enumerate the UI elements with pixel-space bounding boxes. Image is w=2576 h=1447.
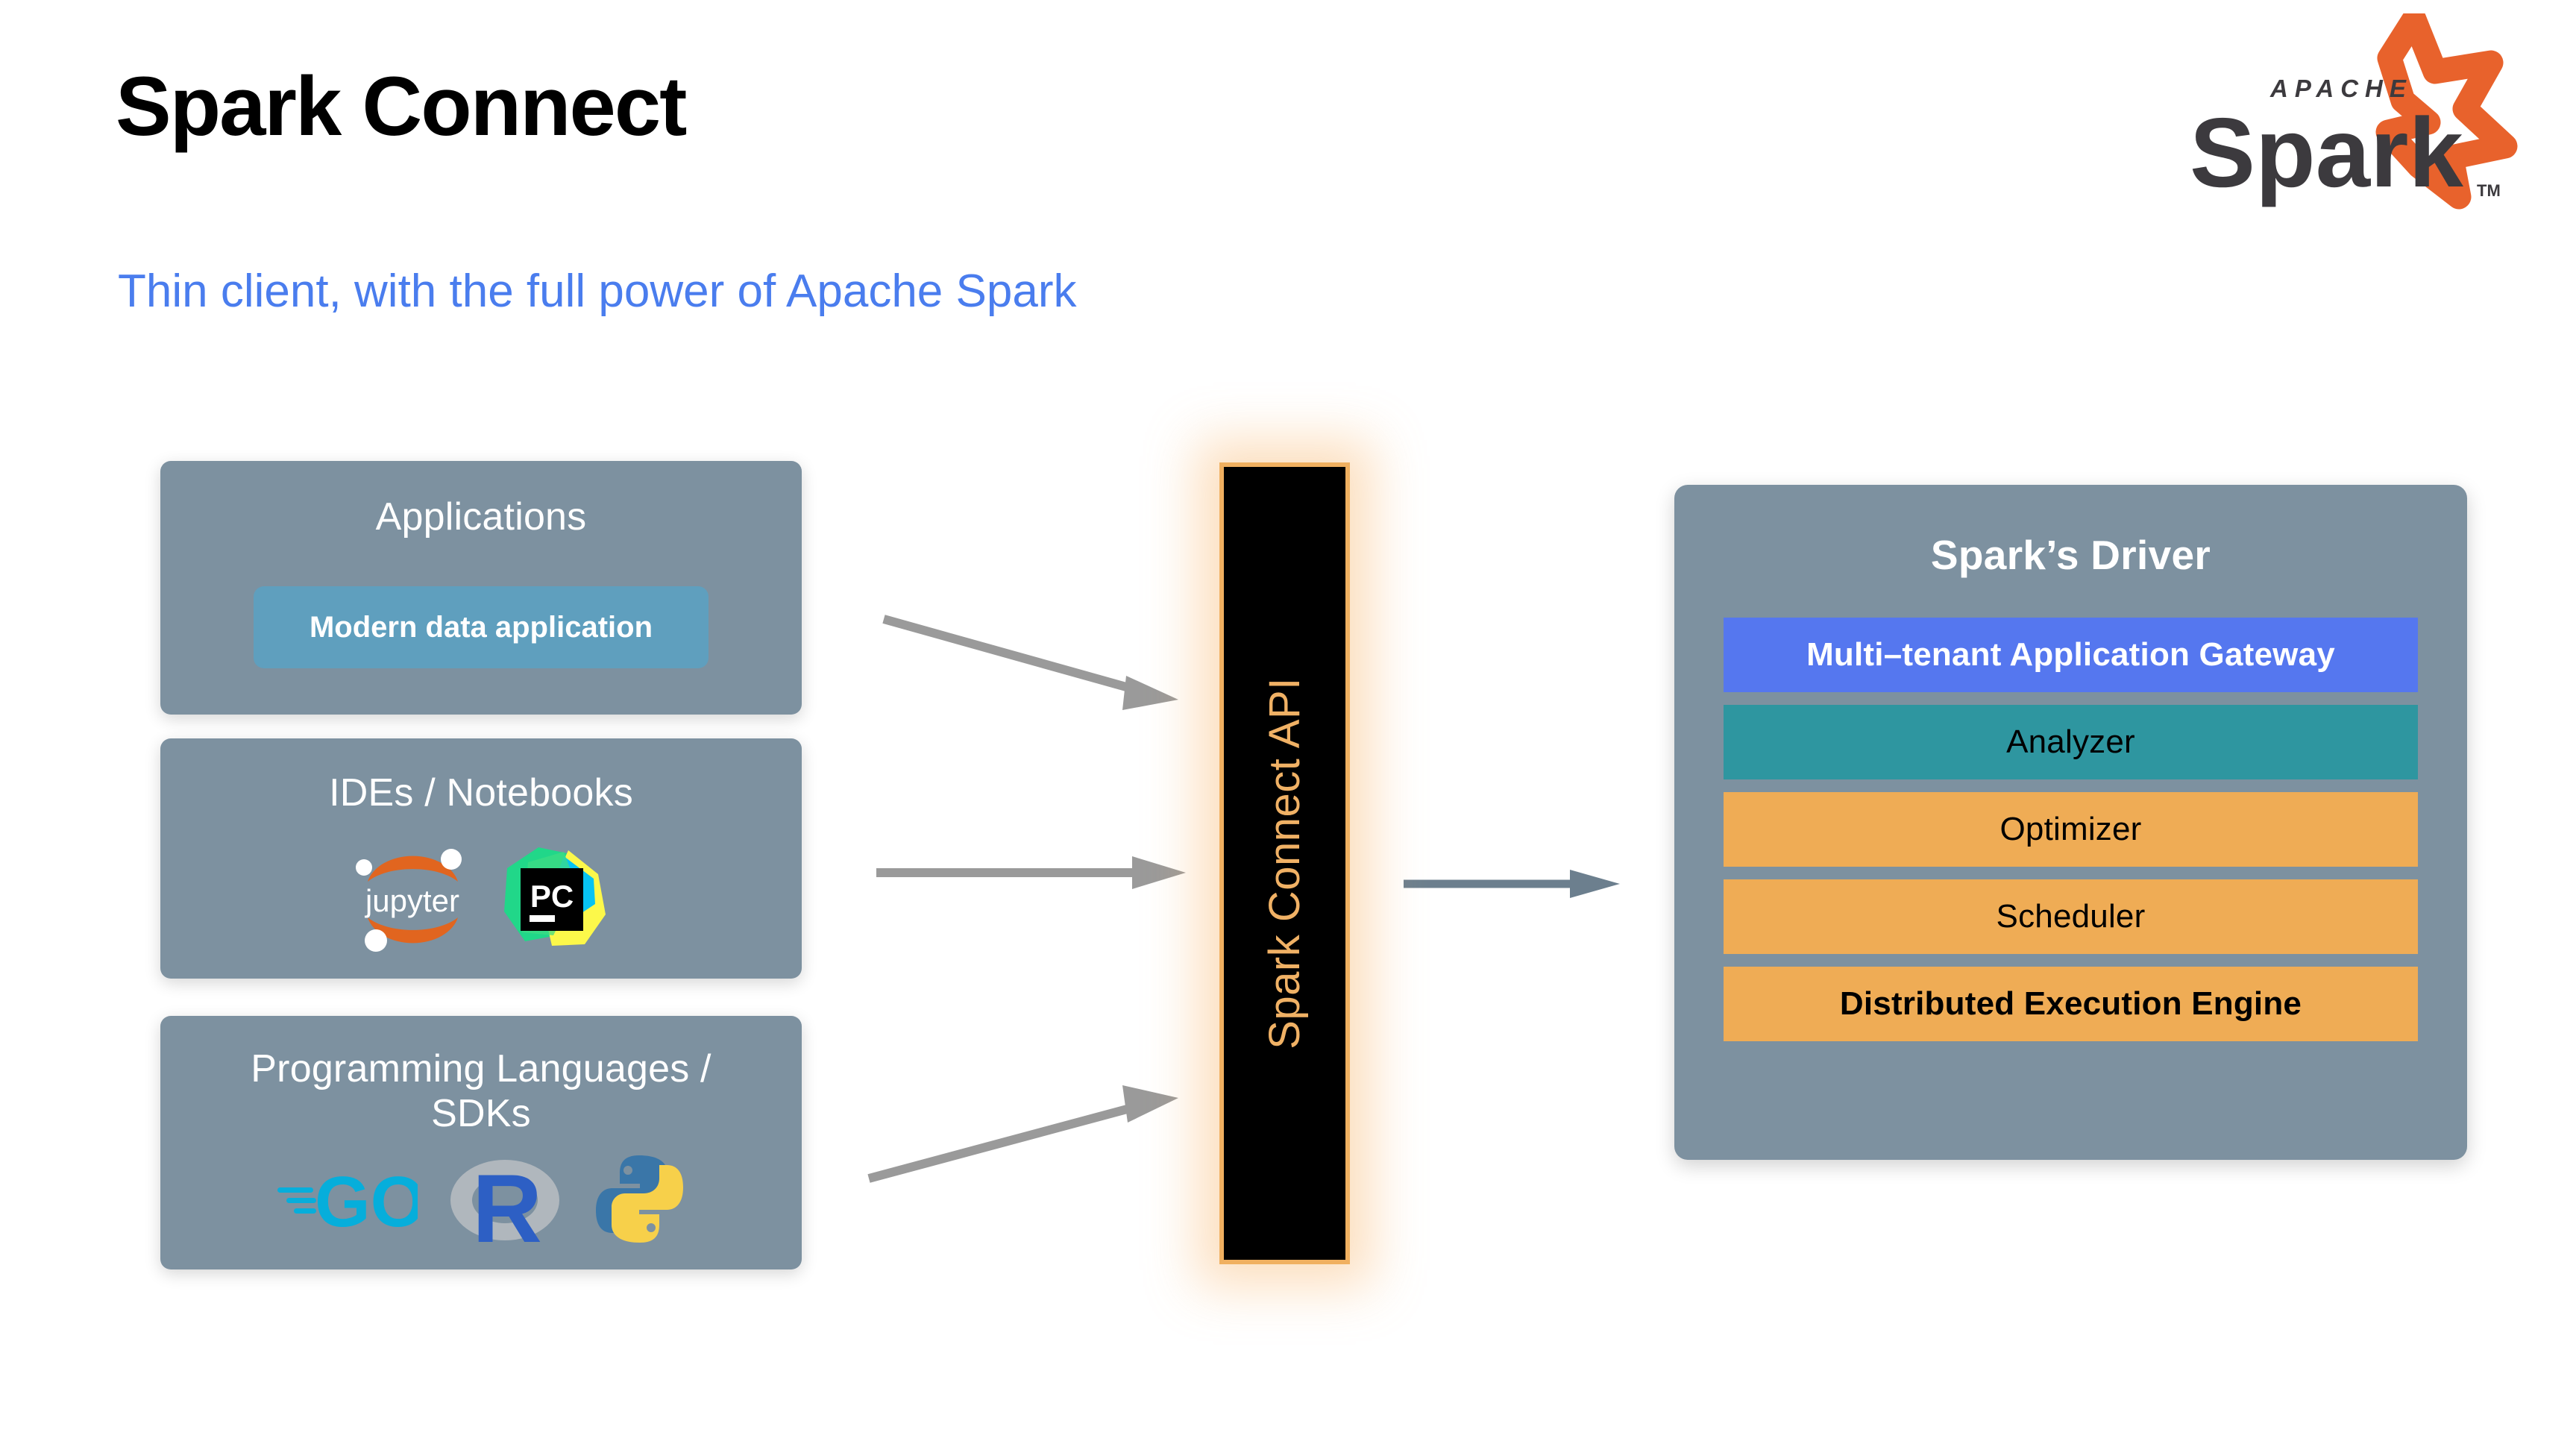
panel-languages-title-line1: Programming Languages / xyxy=(251,1047,711,1090)
jupyter-dot-right xyxy=(441,849,462,870)
driver-row-analyzer[interactable]: Analyzer xyxy=(1724,705,2418,779)
modern-data-application-box[interactable]: Modern data application xyxy=(254,586,709,668)
page-title: Spark Connect xyxy=(116,58,685,154)
driver-component-stack: Multi–tenant Application Gateway Analyze… xyxy=(1724,618,2418,1041)
driver-row-scheduler[interactable]: Scheduler xyxy=(1724,879,2418,954)
driver-row-optimizer[interactable]: Optimizer xyxy=(1724,792,2418,867)
driver-row-gateway[interactable]: Multi–tenant Application Gateway xyxy=(1724,618,2418,692)
apache-spark-logo: APACHE Spark TM xyxy=(2166,13,2524,219)
arrow-line xyxy=(869,1105,1141,1178)
go-logo: GO xyxy=(276,1158,418,1240)
jupyter-dot-left xyxy=(356,859,372,876)
jupyter-wordmark: jupyter xyxy=(363,883,459,918)
go-speed-line-1 xyxy=(277,1187,313,1193)
page-subtitle: Thin client, with the full power of Apac… xyxy=(118,265,1076,318)
spark-driver-title: Spark’s Driver xyxy=(1674,485,2467,579)
r-logo: R xyxy=(447,1146,563,1251)
spark-driver-panel[interactable]: Spark’s Driver Multi–tenant Application … xyxy=(1674,485,2467,1160)
go-wordmark: GO xyxy=(315,1162,418,1240)
pycharm-underscore-icon xyxy=(530,915,555,922)
arrow-line xyxy=(884,619,1145,692)
spark-connect-api-bar[interactable]: Spark Connect API xyxy=(1219,462,1350,1264)
arrow-applications-to-api xyxy=(880,612,1193,723)
panel-applications[interactable]: Applications Modern data application xyxy=(160,461,802,715)
panel-languages-title: Programming Languages / SDKs xyxy=(160,1016,802,1137)
panel-ides-title: IDEs / Notebooks xyxy=(160,738,802,816)
panel-applications-title: Applications xyxy=(160,461,802,540)
ide-logo-row: jupyter PC xyxy=(160,843,802,955)
arrow-ides-to-api xyxy=(873,850,1193,895)
jupyter-dot-bottom xyxy=(365,929,387,952)
pycharm-logo: PC xyxy=(500,843,612,955)
driver-row-execution-engine[interactable]: Distributed Execution Engine xyxy=(1724,967,2418,1041)
panel-languages-title-line2: SDKs xyxy=(431,1092,531,1135)
arrow-languages-to-api xyxy=(865,1044,1193,1193)
arrow-api-to-driver xyxy=(1402,865,1626,903)
go-speed-line-3 xyxy=(294,1208,316,1214)
go-speed-line-2 xyxy=(286,1198,316,1203)
pycharm-wordmark: PC xyxy=(530,879,573,914)
trademark-label: TM xyxy=(2477,181,2501,200)
spark-connect-api-label: Spark Connect API xyxy=(1260,677,1310,1049)
python-logo xyxy=(593,1152,686,1246)
r-wordmark: R xyxy=(472,1154,542,1251)
language-logo-row: GO R xyxy=(160,1146,802,1251)
panel-programming-languages[interactable]: Programming Languages / SDKs GO R xyxy=(160,1016,802,1269)
arrow-head xyxy=(1122,676,1178,710)
panel-ides-notebooks[interactable]: IDEs / Notebooks jupyter PC xyxy=(160,738,802,979)
arrow-head xyxy=(1132,856,1186,889)
arrow-head xyxy=(1570,870,1620,898)
spark-wordmark: Spark xyxy=(2190,98,2463,207)
arrow-head xyxy=(1122,1085,1178,1123)
jupyter-logo: jupyter xyxy=(351,843,474,955)
